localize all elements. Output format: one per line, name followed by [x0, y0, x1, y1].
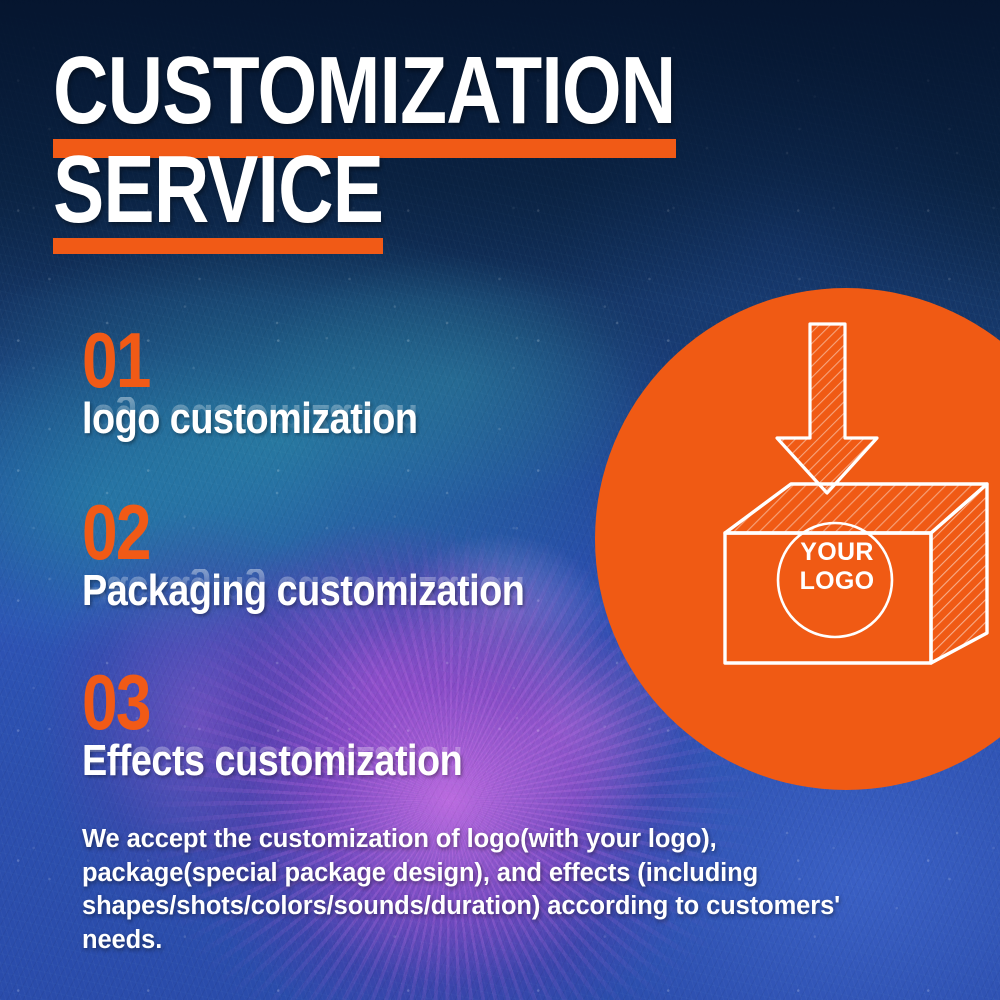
description-paragraph: We accept the customization of logo(with…: [82, 823, 862, 958]
down-arrow-icon: [777, 324, 877, 493]
service-item-2-label: Packaging customization: [82, 569, 524, 613]
service-item-1-number: 01: [82, 326, 402, 395]
headline-line-2: SERVICE: [53, 143, 383, 236]
service-item-3-label: Effects customization: [82, 739, 462, 783]
service-item-1-label-wrap: logo customization logo customization: [82, 397, 472, 441]
service-item-2-label-wrap: Packaging customization Packaging custom…: [82, 569, 596, 613]
your-logo-line-1: YOUR: [785, 538, 889, 567]
service-item-2: 02 Packaging customization Packaging cus…: [82, 498, 596, 613]
promo-banner: CUSTOMIZATION SERVICE 01 logo customizat…: [0, 0, 1000, 1000]
service-item-3-label-wrap: Effects customization Effects customizat…: [82, 739, 524, 783]
service-item-3: 03 Effects customization Effects customi…: [82, 668, 524, 783]
your-logo-line-2: LOGO: [785, 567, 889, 596]
service-item-1-label: logo customization: [82, 397, 417, 441]
headline-block: CUSTOMIZATION SERVICE: [53, 44, 773, 259]
headline-line-1: CUSTOMIZATION: [53, 44, 675, 137]
your-logo-text: YOUR LOGO: [785, 538, 889, 597]
service-item-2-number: 02: [82, 498, 504, 567]
service-item-1: 01 logo customization logo customization: [82, 326, 472, 441]
service-item-3-number: 03: [82, 668, 445, 737]
